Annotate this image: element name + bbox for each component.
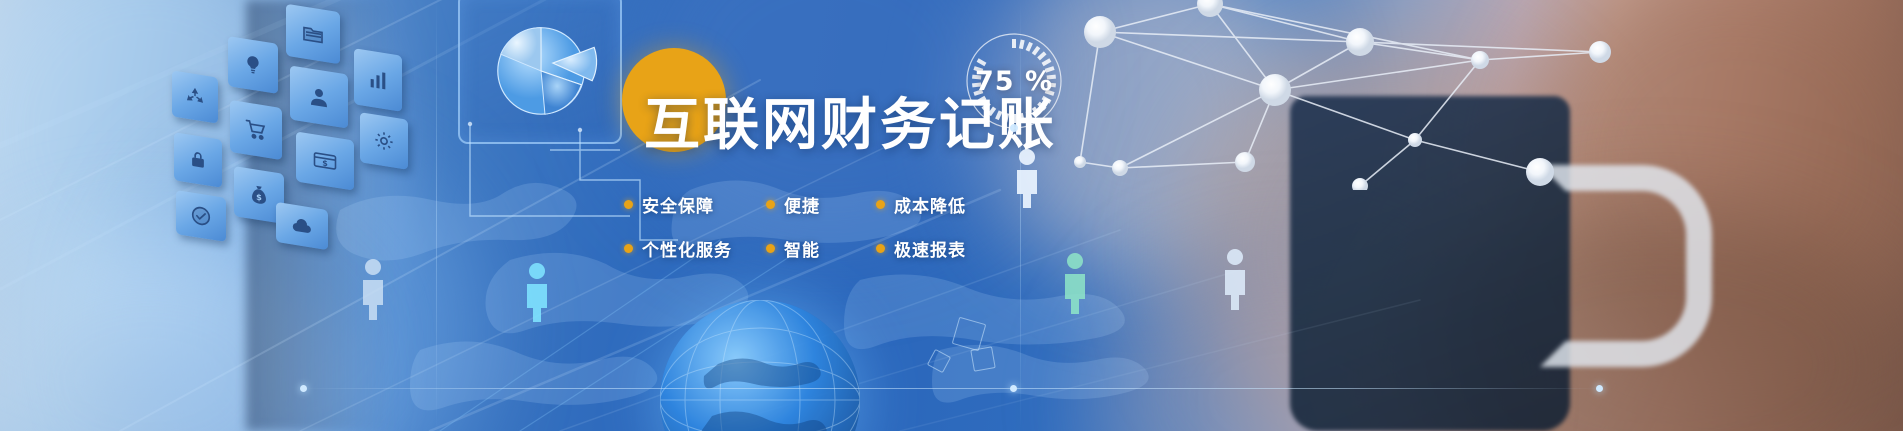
divider-node	[1010, 385, 1017, 392]
cube-lightbulb	[228, 36, 278, 94]
bar-chart-icon	[367, 67, 389, 92]
globe-grid-lines	[660, 300, 860, 431]
credit-card-icon: $	[312, 147, 338, 175]
bottom-divider	[300, 388, 1600, 389]
bullet-dot-icon	[624, 244, 633, 253]
person-icon	[307, 83, 331, 111]
person-pictogram	[1014, 148, 1040, 212]
bullet-dot-icon	[766, 244, 775, 253]
person-pictogram	[1222, 248, 1248, 314]
bullet-dot-icon	[876, 244, 885, 253]
feature-label: 极速报表	[894, 236, 966, 261]
lock-icon	[187, 147, 209, 172]
cube-lock	[174, 132, 222, 188]
bullet-dot-icon	[624, 200, 633, 209]
cube-person	[290, 65, 348, 128]
cube-cart	[230, 100, 282, 160]
pie-chart	[484, 8, 602, 126]
person-pictogram	[524, 262, 550, 326]
feature-item: 智能	[766, 236, 876, 261]
marketing-banner: $ $	[0, 0, 1903, 431]
gauge-value-label: 75 %	[963, 30, 1065, 132]
feature-label: 安全保障	[642, 192, 714, 217]
cube-recycle	[172, 70, 218, 123]
network-node-graph	[1060, 0, 1620, 190]
divider-node	[1596, 385, 1603, 392]
feature-item: 个性化服务	[624, 236, 766, 261]
feature-item: 安全保障	[624, 192, 766, 217]
feature-label: 个性化服务	[642, 236, 732, 261]
cube-bar-chart	[354, 48, 402, 112]
clock-check-icon	[190, 203, 212, 228]
decorative-square	[970, 346, 995, 371]
cube-clock-check	[176, 190, 226, 242]
cube-gear	[360, 112, 408, 170]
cube-cloud	[276, 202, 328, 250]
cloud-icon	[290, 214, 314, 238]
svg-text:$: $	[322, 159, 328, 169]
cube-folder	[286, 4, 340, 65]
folder-icon	[301, 20, 325, 48]
bullet-dot-icon	[876, 200, 885, 209]
person-pictogram	[1062, 252, 1088, 318]
gear-icon	[373, 128, 395, 153]
divider-node	[300, 385, 307, 392]
bullet-dot-icon	[766, 200, 775, 209]
cube-credit-card: $	[296, 131, 354, 190]
feature-item: 成本降低	[876, 192, 966, 217]
recycle-icon	[184, 84, 206, 109]
svg-text:$: $	[256, 192, 262, 203]
feature-label: 便捷	[784, 192, 820, 217]
feature-item: 极速报表	[876, 236, 966, 261]
feature-label: 智能	[784, 236, 820, 261]
feature-list: 安全保障 便捷 成本降低 个性化服务 智能 极速报表	[624, 182, 966, 270]
icon-cube-cluster: $ $	[168, 8, 398, 223]
money-bag-icon: $	[248, 182, 270, 207]
lightbulb-icon	[242, 52, 264, 77]
feature-item: 便捷	[766, 192, 876, 217]
feature-label: 成本降低	[894, 192, 966, 217]
cart-icon	[244, 116, 268, 144]
person-pictogram	[360, 258, 386, 324]
